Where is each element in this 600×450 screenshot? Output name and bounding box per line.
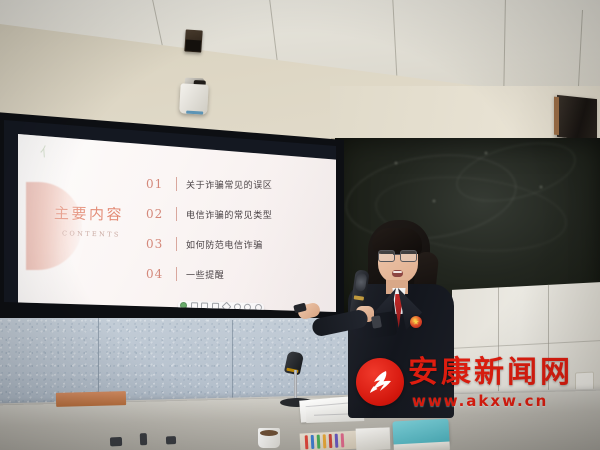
agenda-number: 02 [146, 207, 172, 221]
camera-indicator [186, 111, 203, 115]
more-icon[interactable] [255, 304, 262, 311]
panel-divider [98, 318, 99, 400]
select-icon[interactable] [201, 302, 208, 309]
display-panel: ⺅ 主要内容 CONTENTS 01 关于诈骗常见的误区 02 电信诈骗的常见类… [4, 120, 336, 328]
agenda-number: 01 [146, 177, 172, 191]
app-launcher-icon[interactable] [180, 302, 187, 309]
mic-pole [294, 370, 297, 400]
agenda-number: 03 [146, 237, 172, 251]
watermark-site-name: 安康新闻网 [408, 356, 573, 390]
chalk-dot [485, 152, 487, 154]
camera-body [179, 83, 209, 114]
slide-floating-toolbar[interactable] [178, 301, 264, 312]
apps-grid-icon[interactable] [191, 302, 198, 309]
ceiling-speaker-icon [184, 29, 202, 52]
watermark-logo-circle [356, 358, 404, 406]
chalk-dot [395, 162, 397, 164]
agenda-item: 02 电信诈骗的常见类型 [146, 206, 326, 222]
panel-divider [232, 320, 233, 400]
agenda-number: 04 [146, 267, 172, 281]
agenda-item: 01 关于诈骗常见的误区 [146, 176, 326, 192]
watermark-url: www.akxw.cn [412, 392, 548, 410]
agenda-label: 电信诈骗的常见类型 [186, 208, 272, 221]
slide-title: 主要内容 [54, 202, 124, 224]
agenda-divider [176, 177, 177, 191]
interactive-display[interactable]: ⺅ 主要内容 CONTENTS 01 关于诈骗常见的误区 02 电信诈骗的常见类… [0, 112, 344, 342]
agenda-item: 04 一些提醒 [146, 266, 326, 282]
eraser-icon[interactable] [221, 302, 231, 312]
mic-grill [355, 273, 367, 292]
decorative-half-circle [26, 182, 82, 270]
glasses-icon [378, 250, 416, 260]
teal-storage-box [392, 419, 449, 447]
agenda-label: 一些提醒 [186, 268, 224, 281]
bird-icon [365, 367, 395, 397]
speaker-bracket [554, 97, 559, 136]
chalk-dot [540, 186, 542, 188]
agenda-divider [176, 267, 177, 281]
wall-camera-icon [177, 77, 211, 117]
slide-subtitle: CONTENTS [62, 229, 121, 238]
mouth [392, 270, 403, 277]
photo-scene: ⺅ 主要内容 CONTENTS 01 关于诈骗常见的误区 02 电信诈骗的常见类… [0, 0, 600, 450]
shape-icon[interactable] [244, 304, 251, 311]
desk-small-items [110, 429, 191, 450]
handwriting-mark: ⺅ [39, 144, 58, 161]
pen-icon[interactable] [212, 303, 219, 310]
white-box [356, 427, 391, 450]
wristwatch [371, 315, 382, 328]
watermark: 安康新闻网 www.akxw.cn [356, 354, 596, 416]
cabinet-seam [452, 340, 600, 349]
agenda-divider [176, 207, 177, 221]
desk-wood-trim [56, 391, 126, 407]
coffee-cup [258, 428, 280, 448]
pen-box [300, 430, 363, 450]
agenda-divider [176, 237, 177, 251]
agenda-label: 如何防范电信诈骗 [186, 238, 263, 251]
zoom-icon[interactable] [234, 303, 241, 310]
agenda-list: 01 关于诈骗常见的误区 02 电信诈骗的常见类型 03 如何防范电信诈骗 [146, 176, 326, 296]
agenda-label: 关于诈骗常见的误区 [186, 178, 272, 191]
emblem-badge [410, 316, 422, 328]
chalk-dot [433, 200, 435, 202]
wall-speaker-icon [557, 95, 597, 141]
agenda-item: 03 如何防范电信诈骗 [146, 236, 326, 252]
presentation-slide: ⺅ 主要内容 CONTENTS 01 关于诈骗常见的误区 02 电信诈骗的常见类… [18, 134, 340, 330]
